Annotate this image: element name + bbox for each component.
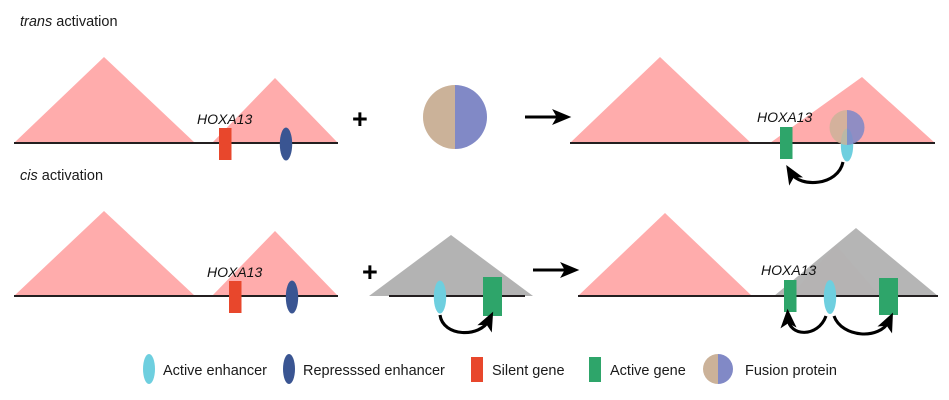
diagram-canvas: trans activation HOXA13 + HOXA13 cis act… [0,0,949,400]
cis-before-panel: HOXA13 [14,211,338,314]
activation-arrow-cis-left [788,316,826,332]
row-title-cis-emph: cis [20,168,38,184]
legend-item-silent-gene: Silent gene [471,357,565,382]
legend: Active enhancer Represssed enhancer Sile… [143,354,837,384]
fusion-protein-icon-left [703,354,718,384]
activation-arrow-cis-right [834,316,889,334]
active-enhancer-shared [824,280,836,314]
gene-label-hoxa13-after: HOXA13 [757,109,812,125]
active-gene-hoxa13-cis-after [784,280,797,312]
activation-arrow-trans [791,162,843,183]
tad-gray [369,235,533,296]
legend-label-repressed-enhancer: Represssed enhancer [303,363,445,379]
trans-fusion-protein-panel [423,85,487,149]
fusion-protein-right-half [455,85,487,149]
repressed-enhancer-icon [283,354,295,384]
tad-pink-large-after [570,57,751,143]
row-title-trans-emph: trans [20,14,52,30]
active-enhancer-gray-tad [434,281,446,314]
active-gene-icon [589,357,601,382]
active-gene-gray-tad [483,277,502,316]
plus-sign-row2: + [362,257,378,287]
tad-pink-large-cis [14,211,195,296]
cis-after-panel: HOXA13 [578,213,938,334]
legend-item-active-enhancer: Active enhancer [143,354,267,384]
repressed-enhancer [280,128,292,161]
repressed-enhancer-cis [286,281,298,314]
trans-before-panel: HOXA13 [14,57,338,161]
active-gene-hoxa13 [780,127,793,159]
legend-label-active-enhancer: Active enhancer [163,363,267,379]
activation-arrow-gray-tad [440,315,489,333]
active-gene-partner [879,278,898,315]
cis-foreign-tad-panel [369,235,533,333]
gene-label-hoxa13-cis: HOXA13 [207,264,262,280]
silent-gene-icon [471,357,483,382]
legend-label-silent-gene: Silent gene [492,363,565,379]
row-title-cis-rest: activation [38,168,103,184]
silent-gene-hoxa13-cis [229,281,242,313]
legend-item-repressed-enhancer: Represssed enhancer [283,354,445,384]
fusion-protein-left-half [423,85,455,149]
legend-item-active-gene: Active gene [589,357,686,382]
gene-label-hoxa13-cis-after: HOXA13 [761,262,816,278]
tad-pink-large-cis-after [578,213,752,296]
row-title-cis: cis activation [20,168,103,184]
active-enhancer-icon [143,354,155,384]
legend-label-active-gene: Active gene [610,363,686,379]
row-title-trans: trans activation [20,14,118,30]
trans-after-panel: HOXA13 [570,57,935,183]
legend-label-fusion-protein: Fusion protein [745,363,837,379]
fusion-protein-icon-right [718,354,733,384]
tad-pink-large [14,57,195,143]
silent-gene-hoxa13 [219,128,232,160]
legend-item-fusion-protein: Fusion protein [703,354,837,384]
figure-root: trans activation HOXA13 + HOXA13 cis act… [0,0,949,400]
row-title-trans-rest: activation [52,14,117,30]
plus-sign-row1: + [352,104,368,134]
gene-label-hoxa13: HOXA13 [197,111,252,127]
